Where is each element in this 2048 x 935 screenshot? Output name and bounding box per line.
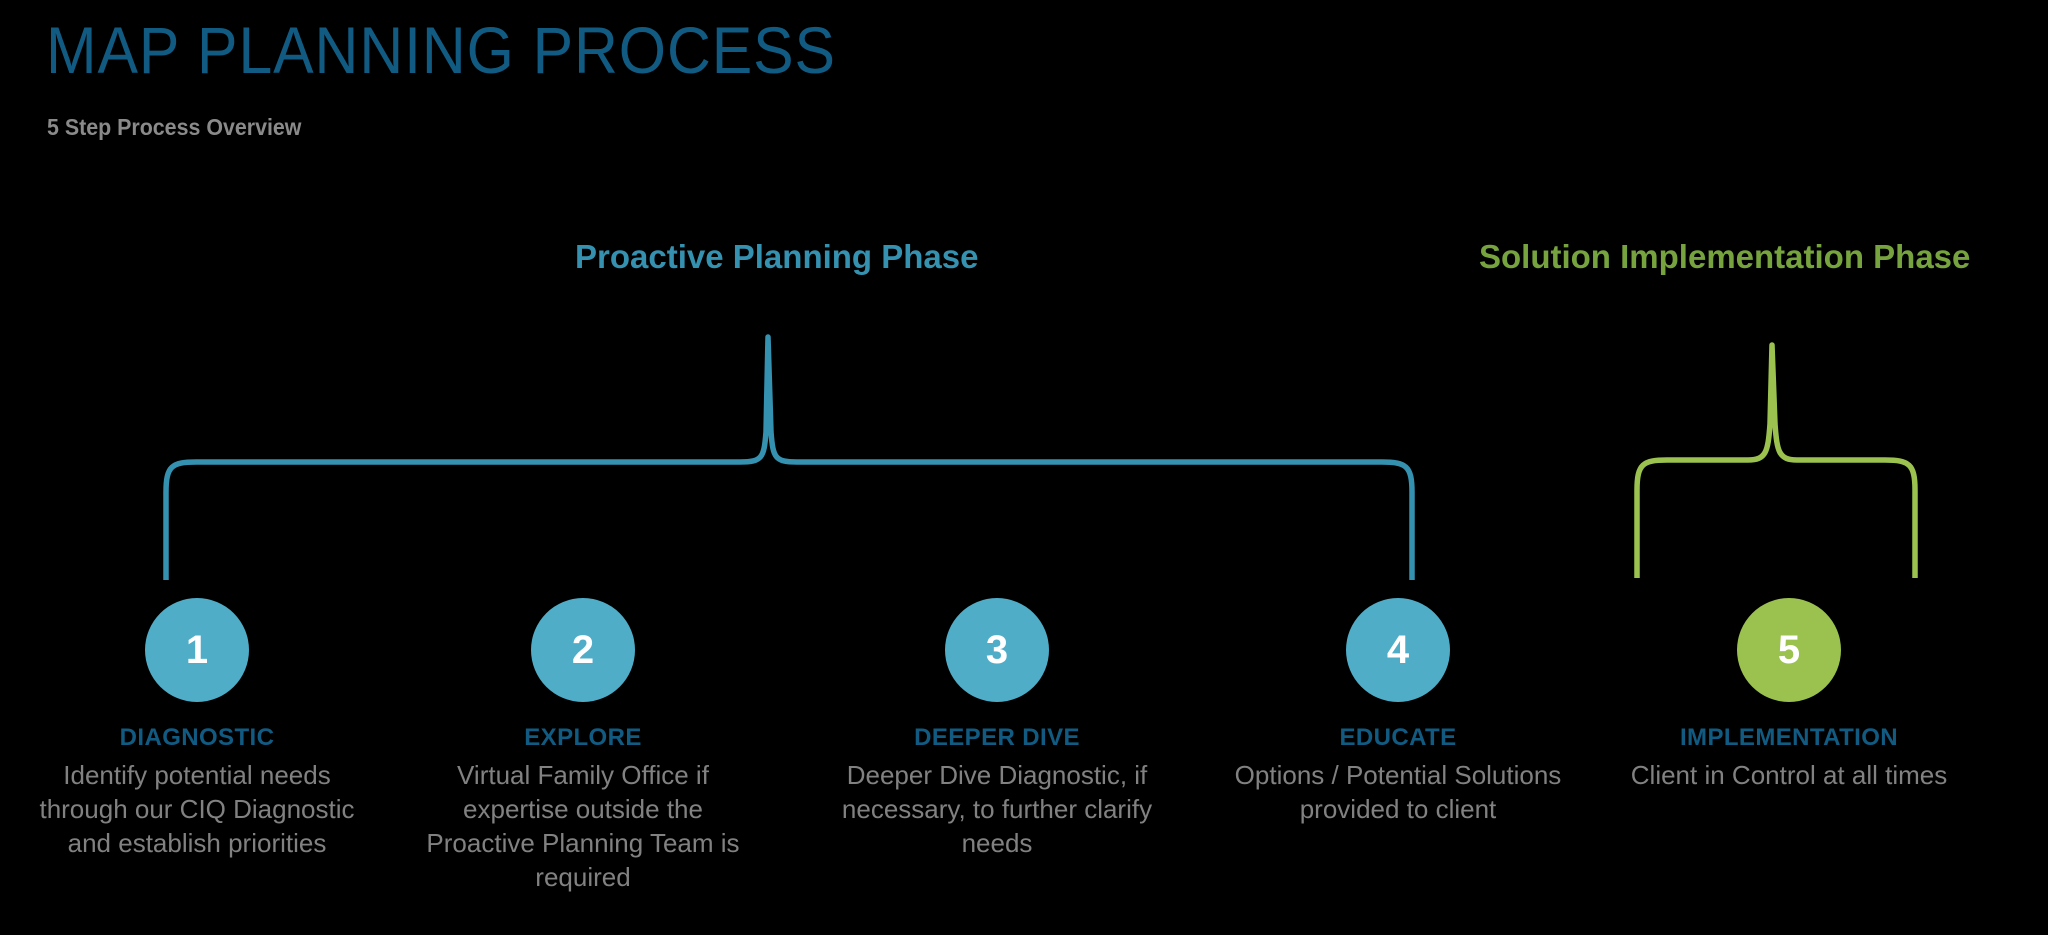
step-4-name: EDUCATE — [1228, 724, 1568, 752]
step-5-circle[interactable]: 5 — [1737, 598, 1841, 702]
phase-heading-solution-implementation: Solution Implementation Phase — [1479, 238, 1970, 276]
step-1-description: Identify potential needs through our CIQ… — [27, 758, 367, 860]
step-3-circle[interactable]: 3 — [945, 598, 1049, 702]
brace-solution-implementation — [1637, 345, 1915, 578]
step-4-circle[interactable]: 4 — [1346, 598, 1450, 702]
step-2-circle[interactable]: 2 — [531, 598, 635, 702]
phase-heading-proactive-planning: Proactive Planning Phase — [575, 238, 978, 276]
step-2-number: 2 — [572, 630, 594, 670]
brace-proactive-planning — [166, 337, 1412, 580]
step-3[interactable]: 3 DEEPER DIVE Deeper Dive Diagnostic, if… — [827, 598, 1167, 860]
step-3-description: Deeper Dive Diagnostic, if necessary, to… — [827, 758, 1167, 860]
step-2-name: EXPLORE — [413, 724, 753, 752]
step-1-number: 1 — [186, 630, 208, 670]
step-5-number: 5 — [1778, 630, 1800, 670]
step-3-name: DEEPER DIVE — [827, 724, 1167, 752]
step-3-number: 3 — [986, 630, 1008, 670]
step-4-number: 4 — [1387, 630, 1409, 670]
step-4[interactable]: 4 EDUCATE Options / Potential Solutions … — [1228, 598, 1568, 826]
step-1[interactable]: 1 DIAGNOSTIC Identify potential needs th… — [27, 598, 367, 860]
page-subtitle: 5 Step Process Overview — [47, 114, 301, 140]
step-2[interactable]: 2 EXPLORE Virtual Family Office if exper… — [413, 598, 753, 894]
step-4-description: Options / Potential Solutions provided t… — [1228, 758, 1568, 826]
step-5-name: IMPLEMENTATION — [1619, 724, 1959, 752]
step-2-description: Virtual Family Office if expertise outsi… — [413, 758, 753, 894]
step-1-name: DIAGNOSTIC — [27, 724, 367, 752]
step-1-circle[interactable]: 1 — [145, 598, 249, 702]
step-5-description: Client in Control at all times — [1619, 758, 1959, 792]
step-5[interactable]: 5 IMPLEMENTATION Client in Control at al… — [1619, 598, 1959, 792]
diagram-canvas: MAP PLANNING PROCESS 5 Step Process Over… — [0, 0, 2048, 935]
page-title: MAP PLANNING PROCESS — [46, 14, 836, 86]
